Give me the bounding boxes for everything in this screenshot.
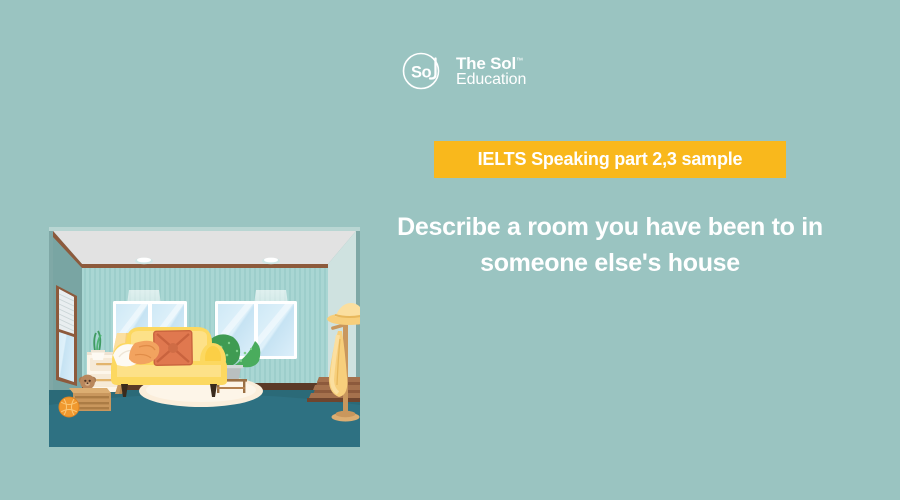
poster-canvas: So The Sol™ Education IELTS Speaking par… bbox=[0, 0, 900, 500]
brand-logo: So The Sol™ Education bbox=[400, 47, 550, 95]
ceiling bbox=[53, 231, 356, 264]
brand-name-line1: The Sol™ bbox=[456, 55, 526, 72]
living-room-illustration bbox=[49, 227, 360, 447]
brand-name-line2: Education bbox=[456, 72, 526, 88]
orange-ball bbox=[59, 397, 79, 417]
brand-wordmark: The Sol™ Education bbox=[456, 54, 526, 89]
svg-text:So: So bbox=[411, 64, 432, 82]
trademark-symbol: ™ bbox=[516, 57, 523, 64]
side-window-with-blinds bbox=[56, 285, 77, 386]
crown-molding bbox=[82, 264, 328, 268]
sol-circle-logo-icon: So bbox=[400, 47, 448, 95]
page-title: Describe a room you have been to in some… bbox=[386, 210, 834, 281]
orange-throw-pillow bbox=[154, 331, 193, 366]
category-badge: IELTS Speaking part 2,3 sample bbox=[434, 141, 786, 178]
category-badge-label: IELTS Speaking part 2,3 sample bbox=[478, 149, 743, 170]
